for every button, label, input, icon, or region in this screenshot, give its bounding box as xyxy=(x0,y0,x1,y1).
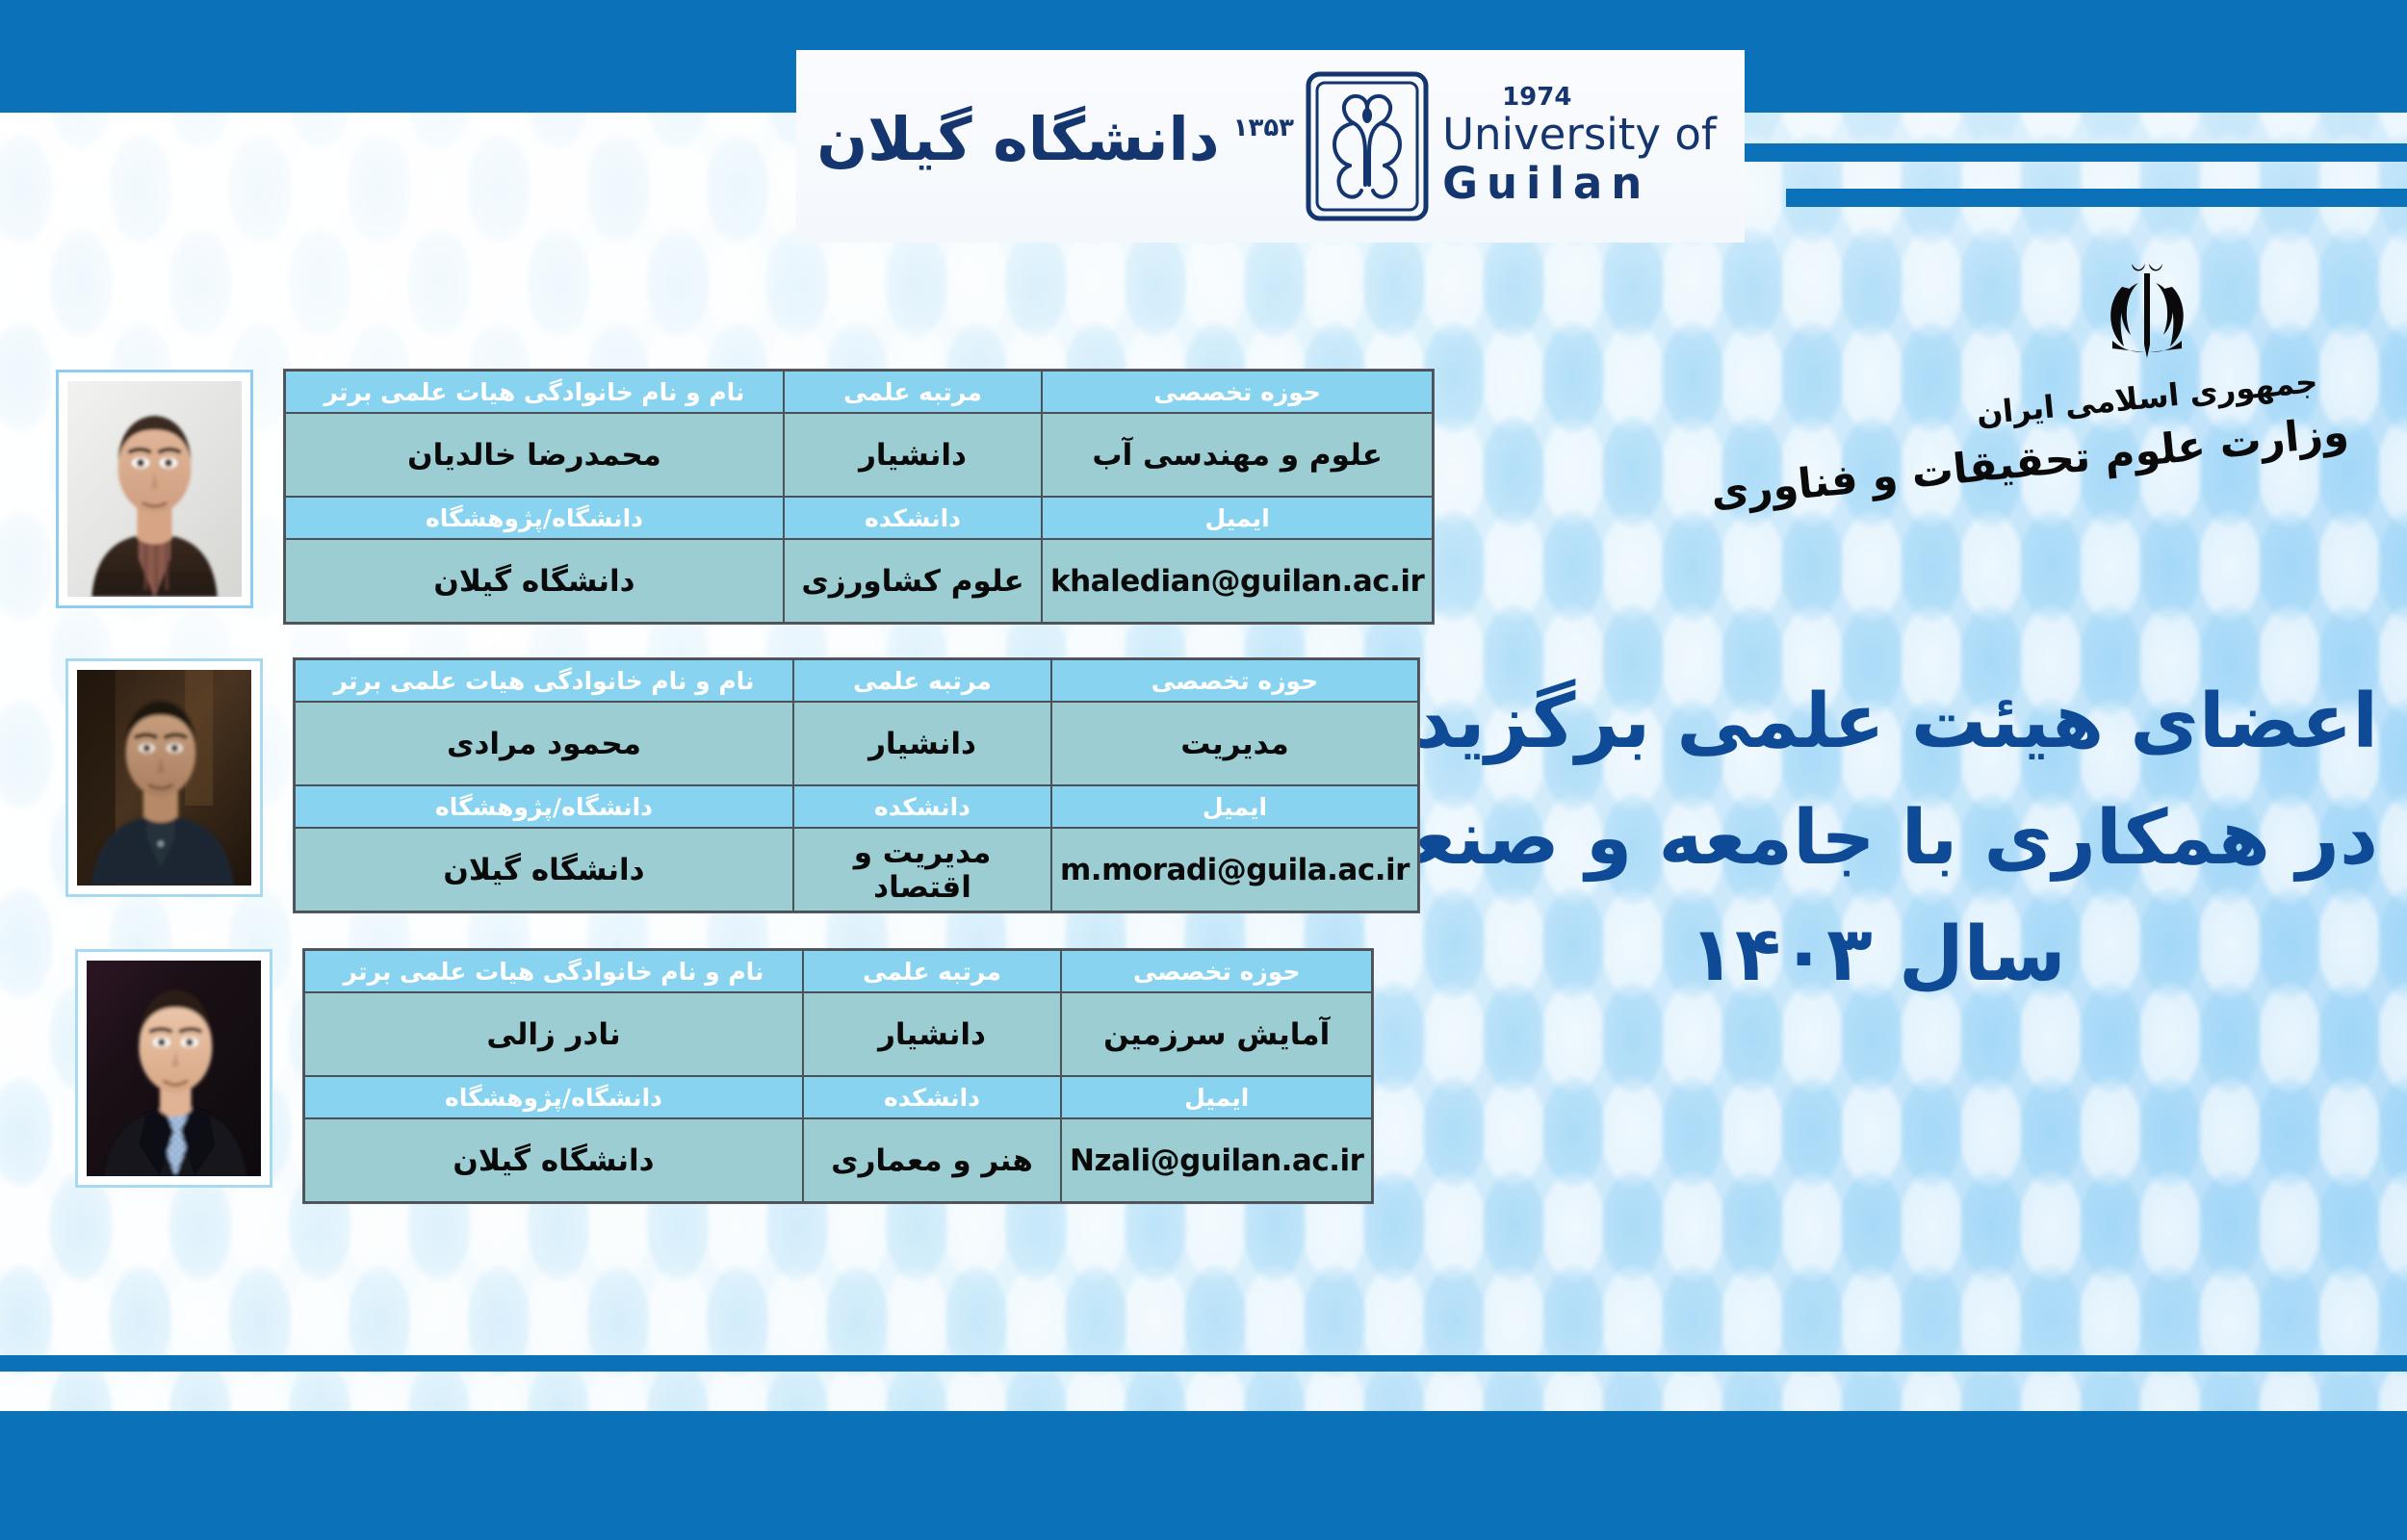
header-email: ایمیل xyxy=(1042,497,1433,539)
faculty-photo-frame xyxy=(56,370,253,608)
logo-english-block: 1974 University of Guilan xyxy=(1436,85,1730,209)
bottom-blue-bar xyxy=(0,1411,2407,1540)
logo-persian-year: ۱۳۵۳ xyxy=(1229,114,1298,142)
header-area: حوزه تخصصی xyxy=(1051,659,1418,702)
cell-institution: دانشگاه گیلان xyxy=(295,828,793,911)
header-faculty: دانشکده xyxy=(793,785,1051,828)
logo-english-line1: University of xyxy=(1442,110,1717,159)
header-rank: مرتبه علمی xyxy=(803,950,1061,992)
header-rank: مرتبه علمی xyxy=(784,371,1042,413)
cell-area: آمایش سرزمین xyxy=(1061,992,1372,1076)
cell-rank: دانشیار xyxy=(784,413,1042,497)
university-logo-panel: دانشگاه گیلان ۱۳۵۳ xyxy=(796,50,1745,243)
logo-persian-name: دانشگاه گیلان xyxy=(811,110,1229,183)
table-row: ایمیل دانشکده دانشگاه/پژوهشگاه xyxy=(295,785,1418,828)
faculty-table: حوزه تخصصی مرتبه علمی نام و نام خانوادگی… xyxy=(303,949,1373,1203)
table-row: ایمیل دانشکده دانشگاه/پژوهشگاه xyxy=(304,1076,1372,1118)
cell-email[interactable]: m.moradi@guila.ac.ir xyxy=(1051,828,1418,911)
table-row: m.moradi@guila.ac.ir مدیریت و اقتصاد دان… xyxy=(295,828,1418,911)
table-row: حوزه تخصصی مرتبه علمی نام و نام خانوادگی… xyxy=(295,659,1418,702)
faculty-table: حوزه تخصصی مرتبه علمی نام و نام خانوادگی… xyxy=(284,370,1434,624)
logo-english-line2: Guilan xyxy=(1442,159,1650,208)
table-row: حوزه تخصصی مرتبه علمی نام و نام خانوادگی… xyxy=(304,950,1372,992)
cell-name: محمود مرادی xyxy=(295,702,793,785)
guilan-university-emblem-icon xyxy=(1304,69,1431,223)
header-rank: مرتبه علمی xyxy=(793,659,1051,702)
faculty-card: حوزه تخصصی مرتبه علمی نام و نام خانوادگی… xyxy=(75,949,1373,1203)
header-name: نام و نام خانوادگی هیات علمی برتر xyxy=(304,950,803,992)
ministry-emblem-block: جمهوری اسلامی ایران وزارت علوم تحقیقات و… xyxy=(1945,248,2349,475)
cell-faculty: مدیریت و اقتصاد xyxy=(793,828,1051,911)
portrait-mohammadreza-khaledian xyxy=(67,381,242,597)
faculty-table: حوزه تخصصی مرتبه علمی نام و نام خانوادگی… xyxy=(294,658,1419,912)
header-email: ایمیل xyxy=(1061,1076,1372,1118)
accent-stripe-upper xyxy=(1744,143,2407,162)
header-institution: دانشگاه/پژوهشگاه xyxy=(295,785,793,828)
header-name: نام و نام خانوادگی هیات علمی برتر xyxy=(285,371,784,413)
faculty-card: حوزه تخصصی مرتبه علمی نام و نام خانوادگی… xyxy=(56,370,1434,624)
table-row: علوم و مهندسی آب دانشیار محمدرضا خالدیان xyxy=(285,413,1433,497)
cell-faculty: علوم کشاورزی xyxy=(784,539,1042,623)
cell-institution: دانشگاه گیلان xyxy=(285,539,784,623)
header-institution: دانشگاه/پژوهشگاه xyxy=(285,497,784,539)
table-row: حوزه تخصصی مرتبه علمی نام و نام خانوادگی… xyxy=(285,371,1433,413)
poster-headline: اعضای هیئت علمی برگزیده در همکاری با جام… xyxy=(1377,664,2378,1014)
faculty-photo-frame xyxy=(65,658,263,897)
table-row: Nzali@guilan.ac.ir هنر و معماری دانشگاه … xyxy=(304,1118,1372,1202)
headline-line-2: در همکاری با جامعه و صنعت xyxy=(1377,781,2378,897)
cell-faculty: هنر و معماری xyxy=(803,1118,1061,1202)
poster-canvas: دانشگاه گیلان ۱۳۵۳ xyxy=(0,0,2407,1540)
iran-national-emblem-icon xyxy=(2083,248,2211,375)
portrait-mahmoud-moradi xyxy=(77,670,251,885)
cell-name: محمدرضا خالدیان xyxy=(285,413,784,497)
header-faculty: دانشکده xyxy=(803,1076,1061,1118)
cell-name: نادر زالی xyxy=(304,992,803,1076)
table-row: khaledian@guilan.ac.ir علوم کشاورزی دانش… xyxy=(285,539,1433,623)
bottom-blue-rule xyxy=(0,1355,2407,1372)
cell-email[interactable]: Nzali@guilan.ac.ir xyxy=(1061,1118,1372,1202)
accent-stripe-lower xyxy=(1786,189,2407,207)
table-row: مدیریت دانشیار محمود مرادی xyxy=(295,702,1418,785)
header-name: نام و نام خانوادگی هیات علمی برتر xyxy=(295,659,793,702)
logo-english-year: 1974 xyxy=(1502,85,1571,110)
headline-line-3: سال ۱۴۰۳ xyxy=(1377,897,2378,1014)
portrait-nader-zali xyxy=(87,961,261,1176)
table-row: ایمیل دانشکده دانشگاه/پژوهشگاه xyxy=(285,497,1433,539)
faculty-photo-frame xyxy=(75,949,272,1188)
cell-institution: دانشگاه گیلان xyxy=(304,1118,803,1202)
faculty-card: حوزه تخصصی مرتبه علمی نام و نام خانوادگی… xyxy=(65,658,1419,912)
cell-area: علوم و مهندسی آب xyxy=(1042,413,1433,497)
header-area: حوزه تخصصی xyxy=(1042,371,1433,413)
headline-line-1: اعضای هیئت علمی برگزیده xyxy=(1377,664,2378,781)
header-email: ایمیل xyxy=(1051,785,1418,828)
table-row: آمایش سرزمین دانشیار نادر زالی xyxy=(304,992,1372,1076)
header-institution: دانشگاه/پژوهشگاه xyxy=(304,1076,803,1118)
header-area: حوزه تخصصی xyxy=(1061,950,1372,992)
cell-rank: دانشیار xyxy=(793,702,1051,785)
header-faculty: دانشکده xyxy=(784,497,1042,539)
cell-rank: دانشیار xyxy=(803,992,1061,1076)
cell-area: مدیریت xyxy=(1051,702,1418,785)
cell-email[interactable]: khaledian@guilan.ac.ir xyxy=(1042,539,1433,623)
